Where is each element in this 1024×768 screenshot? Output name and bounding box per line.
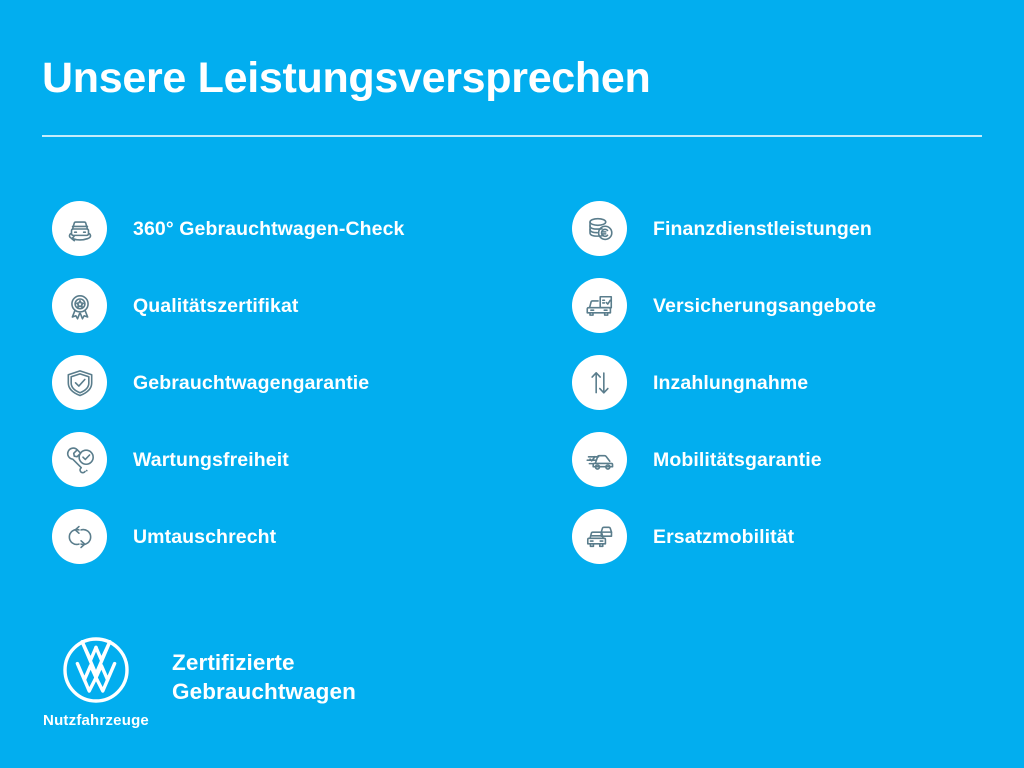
promise-item: Gebrauchtwagengarantie (52, 355, 512, 410)
promise-label: Wartungsfreiheit (133, 448, 289, 472)
promise-label: Gebrauchtwagengarantie (133, 371, 369, 395)
brand-title-line2: Gebrauchtwagen (172, 677, 356, 706)
promise-item: 360° Gebrauchtwagen-Check (52, 201, 512, 256)
brand-block: Nutzfahrzeuge Zertifizierte Gebrauchtwag… (42, 634, 356, 729)
promise-item: Wartungsfreiheit (52, 432, 512, 487)
award-rosette-icon (52, 278, 107, 333)
up-down-arrows-icon (572, 355, 627, 410)
promise-label: Qualitätszertifikat (133, 294, 299, 318)
two-cars-icon (572, 509, 627, 564)
brand-subtitle: Nutzfahrzeuge (43, 712, 149, 729)
promise-label: 360° Gebrauchtwagen-Check (133, 217, 404, 241)
car-360-check-icon (52, 201, 107, 256)
car-motion-icon (572, 432, 627, 487)
promise-item: Mobilitätsgarantie (572, 432, 1024, 487)
wrench-gear-check-icon (52, 432, 107, 487)
brand-mark: Nutzfahrzeuge (42, 634, 150, 729)
promises-column-right: Finanzdienstleistungen Versicheru (572, 201, 1024, 564)
car-document-check-icon (572, 278, 627, 333)
brand-title-line1: Zertifizierte (172, 648, 356, 677)
promise-item: Umtauschrecht (52, 509, 512, 564)
exchange-arrows-icon (52, 509, 107, 564)
slide-root: Unsere Leistungsversprechen 360° Gebrauc (0, 0, 1024, 768)
page-title: Unsere Leistungsversprechen (42, 52, 982, 104)
vw-logo-icon (60, 634, 132, 706)
promise-label: Ersatzmobilität (653, 525, 794, 549)
promise-item: Inzahlungnahme (572, 355, 1024, 410)
promise-label: Umtauschrecht (133, 525, 276, 549)
promise-label: Mobilitätsgarantie (653, 448, 822, 472)
promise-label: Finanzdienstleistungen (653, 217, 872, 241)
promise-label: Inzahlungnahme (653, 371, 808, 395)
promise-item: Qualitätszertifikat (52, 278, 512, 333)
header: Unsere Leistungsversprechen (42, 52, 982, 137)
shield-check-icon (52, 355, 107, 410)
promise-label: Versicherungsangebote (653, 294, 876, 318)
promise-item: Ersatzmobilität (572, 509, 1024, 564)
brand-title: Zertifizierte Gebrauchtwagen (172, 648, 356, 706)
promises-section: 360° Gebrauchtwagen-Check Qualitätszerti… (0, 201, 1024, 581)
title-divider (42, 135, 982, 137)
coins-euro-icon (572, 201, 627, 256)
promise-item: Versicherungsangebote (572, 278, 1024, 333)
promises-column-left: 360° Gebrauchtwagen-Check Qualitätszerti… (52, 201, 512, 564)
promise-item: Finanzdienstleistungen (572, 201, 1024, 256)
